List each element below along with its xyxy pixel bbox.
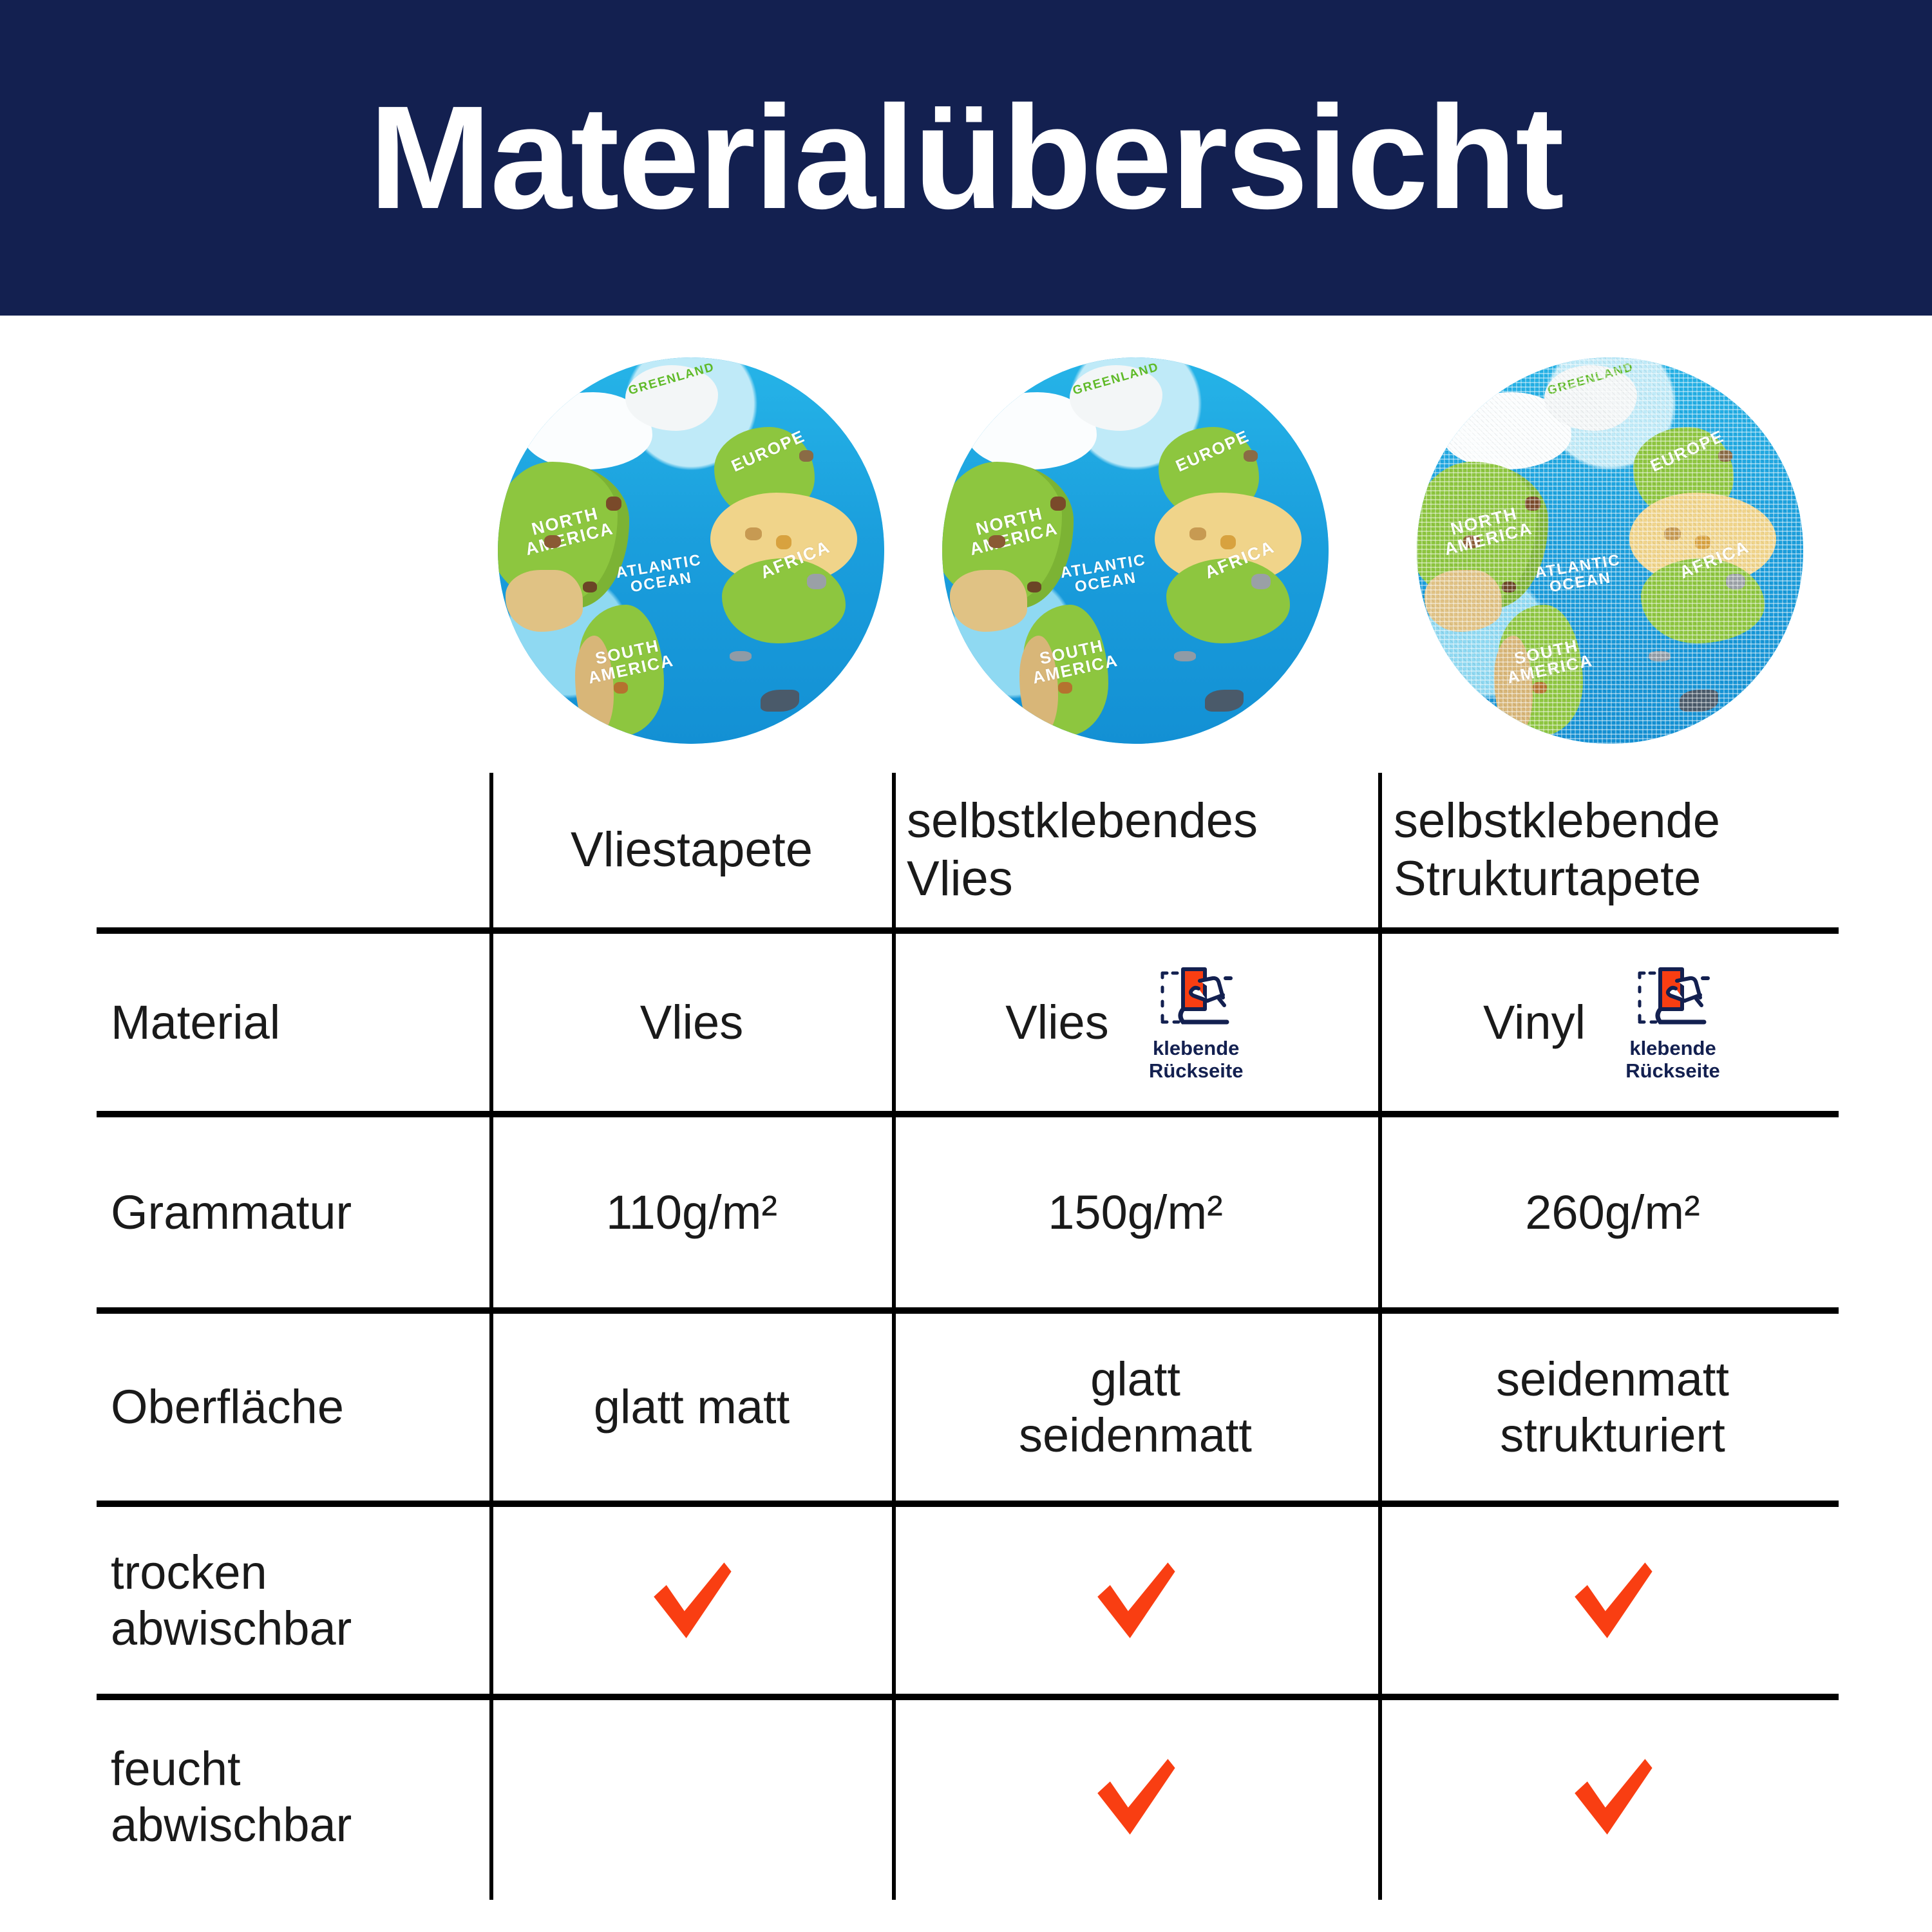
peel-sticky-back-icon: [1634, 963, 1712, 1032]
cell-oberflaeche-2: glatt seidenmatt: [900, 1314, 1370, 1501]
cell-grammatur-2: 150g/m²: [900, 1117, 1370, 1307]
column-header-3: selbstklebende Strukturtapete: [1387, 773, 1844, 927]
cell-grammatur-2-value: 150g/m²: [1048, 1184, 1222, 1240]
column-divider-3: [1378, 773, 1382, 1900]
cell-material-1: Vlies: [496, 934, 887, 1111]
column-header-1: Vliestapete: [496, 773, 887, 927]
checkmark-icon: [1564, 1555, 1661, 1645]
row-label-oberflaeche-text: Oberfläche: [111, 1379, 344, 1435]
animal-speck: [799, 450, 813, 462]
product-preview-3[interactable]: GREENLAND NORTH AMERICA SOUTH AMERICA EU…: [1378, 351, 1842, 750]
column-header-3-label: selbstklebende Strukturtapete: [1394, 792, 1844, 907]
row-divider-2: [97, 1307, 1839, 1314]
page-title: Materialübersicht: [369, 84, 1563, 231]
row-divider-3: [97, 1501, 1839, 1507]
cell-grammatur-3-value: 260g/m²: [1525, 1184, 1700, 1240]
animal-speck: [606, 497, 621, 511]
checkmark-icon: [1087, 1555, 1184, 1645]
sticky-back-badge: klebendeRückseite: [1604, 963, 1742, 1082]
row-label-oberflaeche: Oberfläche: [97, 1314, 501, 1501]
row-label-material: Material: [97, 934, 501, 1111]
row-divider-4: [97, 1694, 1839, 1700]
central-america-landmass: [506, 570, 583, 632]
world-map-globe-image: GREENLAND NORTH AMERICA SOUTH AMERICA EU…: [498, 357, 884, 744]
world-map-globe-image: GREENLAND NORTH AMERICA SOUTH AMERICA EU…: [942, 357, 1329, 744]
sticky-back-badge: klebendeRückseite: [1127, 963, 1265, 1082]
animal-speck: [807, 574, 826, 589]
structure-texture-overlay: [1417, 357, 1803, 744]
checkmark-icon: [1087, 1752, 1184, 1842]
cell-trocken-3: [1387, 1507, 1838, 1694]
animal-speck: [614, 682, 628, 694]
check-trocken-1: [496, 1507, 887, 1694]
check-trocken-3: [1387, 1507, 1838, 1694]
checkmark-icon: [643, 1555, 740, 1645]
africa-landmass: [722, 558, 846, 643]
whale-speck: [1205, 690, 1244, 712]
cell-grammatur-1-value: 110g/m²: [606, 1184, 777, 1240]
animal-speck: [989, 535, 1005, 548]
checkmark-icon: [1564, 1752, 1661, 1842]
check-feucht-2: [900, 1700, 1370, 1893]
cell-oberflaeche-3-value: seidenmatt strukturiert: [1445, 1351, 1780, 1464]
column-header-2-label: selbstklebendes Vlies: [907, 792, 1377, 907]
cell-material-3: Vinyl klebendeRückseite: [1387, 934, 1838, 1111]
product-preview-2[interactable]: GREENLAND NORTH AMERICA SOUTH AMERICA EU…: [892, 351, 1378, 750]
animal-speck: [1244, 450, 1258, 462]
cell-material-2: Vlies klebendeRückseite: [900, 934, 1370, 1111]
row-label-grammatur-text: Grammatur: [111, 1184, 352, 1240]
dolphin-speck: [1174, 651, 1196, 661]
whale-speck: [761, 690, 799, 712]
animal-speck: [1027, 582, 1041, 592]
row-label-trocken-abwischbar: trocken abwischbar: [97, 1507, 501, 1694]
peel-sticky-back-icon: [1157, 963, 1235, 1032]
column-header-2: selbstklebendes Vlies: [900, 773, 1377, 927]
cell-feucht-1: [496, 1700, 887, 1893]
page-header: Materialübersicht: [0, 0, 1932, 316]
row-label-trocken-abwischbar-text: trocken abwischbar: [111, 1544, 446, 1657]
cell-material-2-value: Vlies: [1005, 994, 1108, 1050]
cell-material-3-value: Vinyl: [1483, 994, 1586, 1050]
africa-landmass: [1166, 558, 1290, 643]
cell-grammatur-1: 110g/m²: [496, 1117, 887, 1307]
cell-oberflaeche-1-value: glatt matt: [594, 1379, 790, 1435]
check-trocken-2: [900, 1507, 1370, 1694]
animal-speck: [1058, 682, 1072, 694]
cell-feucht-2: [900, 1700, 1370, 1893]
material-comparison-table: Vliestapete selbstklebendes Vlies selbst…: [97, 773, 1839, 1900]
row-label-feucht-abwischbar: feucht abwischbar: [97, 1700, 501, 1893]
cell-material-1-value: Vlies: [640, 994, 743, 1050]
animal-speck: [1220, 535, 1236, 549]
animal-speck: [544, 535, 561, 548]
cell-oberflaeche-1: glatt matt: [496, 1314, 887, 1501]
sticky-back-badge-label: klebendeRückseite: [1625, 1037, 1719, 1082]
column-divider-2: [892, 773, 896, 1900]
row-divider-1: [97, 1111, 1839, 1117]
row-divider-header: [97, 927, 1839, 934]
cell-trocken-1: [496, 1507, 887, 1694]
animal-speck: [1050, 497, 1066, 511]
cell-grammatur-3: 260g/m²: [1387, 1117, 1838, 1307]
column-header-1-label: Vliestapete: [571, 821, 813, 879]
sticky-back-badge-label: klebendeRückseite: [1149, 1037, 1243, 1082]
product-preview-1[interactable]: GREENLAND NORTH AMERICA SOUTH AMERICA EU…: [489, 351, 892, 750]
row-label-feucht-abwischbar-text: feucht abwischbar: [111, 1741, 446, 1853]
animal-speck: [1189, 527, 1206, 540]
animal-speck: [1251, 574, 1271, 589]
cell-trocken-2: [900, 1507, 1370, 1694]
central-america-landmass: [950, 570, 1027, 632]
animal-speck: [745, 527, 762, 540]
product-preview-row: GREENLAND NORTH AMERICA SOUTH AMERICA EU…: [489, 351, 1842, 750]
check-feucht-3: [1387, 1700, 1838, 1893]
world-map-globe-image-textured: GREENLAND NORTH AMERICA SOUTH AMERICA EU…: [1417, 357, 1803, 744]
dolphin-speck: [730, 651, 752, 661]
cell-oberflaeche-3: seidenmatt strukturiert: [1387, 1314, 1838, 1501]
material-overview-page: Materialübersicht GREENLAND NORTH AMERIC…: [0, 0, 1932, 1932]
cell-oberflaeche-2-value: glatt seidenmatt: [987, 1351, 1283, 1464]
animal-speck: [583, 582, 597, 592]
animal-speck: [776, 535, 791, 549]
row-label-material-text: Material: [111, 994, 280, 1050]
row-label-grammatur: Grammatur: [97, 1117, 501, 1307]
cell-feucht-3: [1387, 1700, 1838, 1893]
